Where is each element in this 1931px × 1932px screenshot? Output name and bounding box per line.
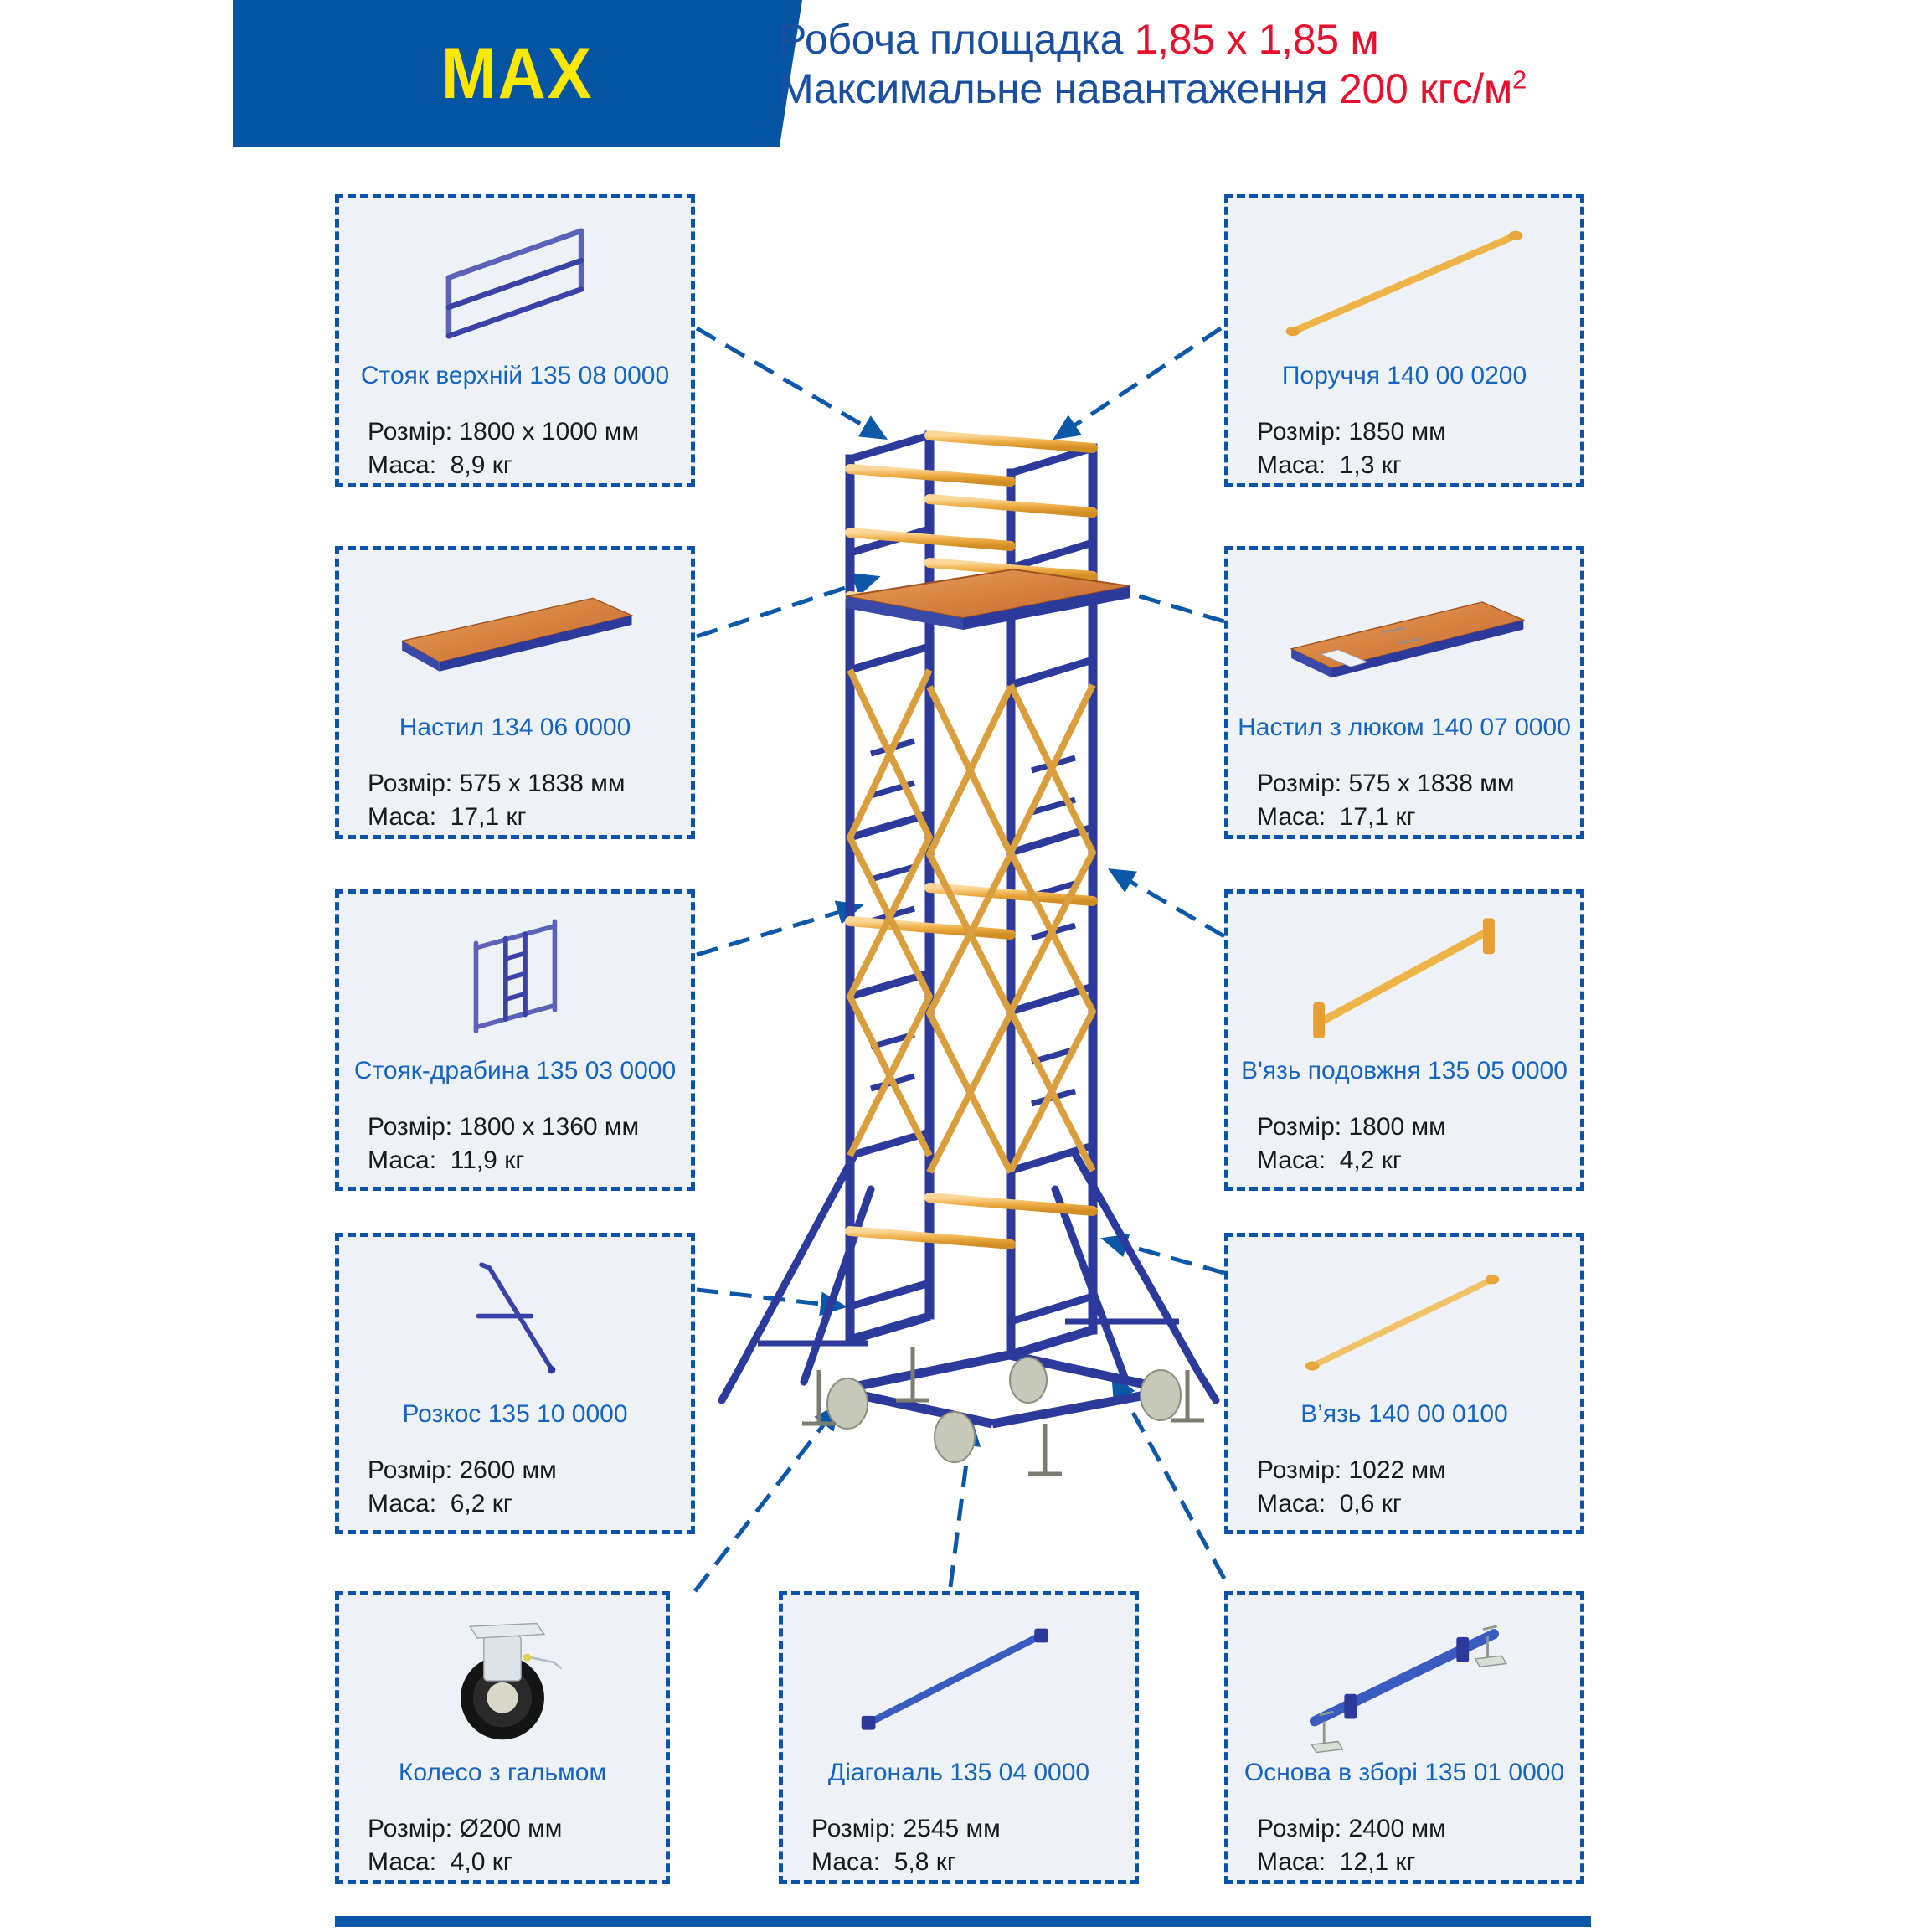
ladder-rungs xyxy=(871,741,1075,1104)
size-label: Розмір: xyxy=(1257,415,1341,449)
mass-label: Маса: xyxy=(1257,801,1326,834)
size-value: 575 х 1838 мм xyxy=(459,767,625,801)
card-specs: Розмір: 2545 мм Маса: 5,8 кг xyxy=(811,1812,1135,1878)
callout-lines xyxy=(695,328,1224,1591)
mass-label: Маса: xyxy=(1257,1144,1326,1177)
size-value: Ø200 мм xyxy=(459,1812,562,1846)
card-title: Поруччя 140 00 0200 xyxy=(1228,362,1580,390)
header-specs: Робоча площадка 1,85 х 1,85 м Максимальн… xyxy=(779,15,1884,114)
mass-value: 12,1 кг xyxy=(1340,1846,1416,1879)
tower-verticals xyxy=(850,435,1093,1350)
card-specs: Розмір: 1800 х 1360 мм Маса: 11,9 кг xyxy=(368,1110,691,1177)
mass-value: 11,9 кг xyxy=(451,1144,525,1177)
guardrail-frame-icon xyxy=(348,210,682,357)
mass-label: Маса: xyxy=(811,1846,880,1879)
card-vyaz-140[interactable]: В’язь 140 00 0100 Розмір: 1022 мм Маса: … xyxy=(1224,1233,1584,1534)
size-label: Розмір: xyxy=(1257,1812,1341,1846)
handrail-tube-icon xyxy=(1237,210,1572,357)
mass-value: 5,8 кг xyxy=(894,1846,956,1879)
outrigger-legs xyxy=(722,1156,1216,1400)
max-load-superscript: 2 xyxy=(1512,64,1527,94)
card-title: Розкос 135 10 0000 xyxy=(339,1400,691,1429)
card-nastyl-z-lyukom[interactable]: Настил з люком 140 07 0000 Розмір: 575 х… xyxy=(1224,546,1584,839)
size-value: 1022 мм xyxy=(1348,1454,1445,1487)
deck-platform xyxy=(846,569,1130,630)
braked-castor-wheel-icon xyxy=(348,1607,657,1754)
card-title: Настил 134 06 0000 xyxy=(339,714,691,742)
working-platform-value: 1,85 х 1,85 м xyxy=(1135,16,1379,63)
diagonal-brace-icon xyxy=(791,1607,1126,1754)
mass-value: 17,1 кг xyxy=(451,801,527,834)
mass-value: 4,0 кг xyxy=(451,1846,512,1879)
card-title: Настил з люком 140 07 0000 xyxy=(1228,714,1580,742)
mass-value: 4,2 кг xyxy=(1340,1144,1402,1177)
size-value: 575 х 1838 мм xyxy=(1348,767,1514,801)
deck-platform-hatch-icon xyxy=(1237,562,1572,708)
card-specs: Розмір: 575 х 1838 мм Маса: 17,1 кг xyxy=(1257,767,1580,833)
max-badge-banner: MAX xyxy=(233,0,802,147)
card-osnova[interactable]: Основа в зборі 135 01 0000 Розмір: 2400 … xyxy=(1224,1591,1584,1884)
card-specs: Розмір: 2400 мм Маса: 12,1 кг xyxy=(1257,1812,1580,1878)
brace-tube-icon xyxy=(1237,1249,1572,1395)
outrigger-icon xyxy=(348,1249,682,1395)
size-label: Розмір: xyxy=(368,1454,452,1487)
card-koleso[interactable]: Колесо з гальмом Розмір: Ø200 мм Маса: 4… xyxy=(335,1591,670,1884)
max-load-value: 200 кгс/м xyxy=(1339,65,1512,112)
longitudinal-brace-icon xyxy=(1237,905,1572,1052)
card-specs: Розмір: 1850 мм Маса: 1,3 кг xyxy=(1257,415,1580,482)
card-specs: Розмір: 1022 мм Маса: 0,6 кг xyxy=(1257,1454,1580,1520)
card-poruchchya[interactable]: Поруччя 140 00 0200 Розмір: 1850 мм Маса… xyxy=(1224,194,1584,487)
card-title: Колесо з гальмом xyxy=(339,1759,666,1787)
ladder-frame-icon xyxy=(348,905,682,1052)
horizontal-braces xyxy=(850,435,1093,1244)
deck-platform-icon xyxy=(348,562,682,708)
base-assembly-icon xyxy=(1237,1607,1572,1754)
working-platform-line: Робоча площадка 1,85 х 1,85 м xyxy=(779,15,1884,64)
mass-label: Маса: xyxy=(368,449,436,482)
scaffold-tower-illustration xyxy=(722,435,1216,1474)
mass-label: Маса: xyxy=(368,1846,436,1879)
mass-value: 6,2 кг xyxy=(451,1487,512,1521)
card-stoyak-verkhniy[interactable]: Стояк верхній 135 08 0000 Розмір: 1800 х… xyxy=(335,194,695,487)
card-title: Стояк-драбина 135 03 0000 xyxy=(339,1057,691,1085)
size-value: 2600 мм xyxy=(459,1454,556,1487)
card-specs: Розмір: 575 х 1838 мм Маса: 17,1 кг xyxy=(368,767,691,833)
footer-bar xyxy=(335,1916,1591,1927)
size-value: 2400 мм xyxy=(1348,1812,1445,1846)
max-badge-label: MAX xyxy=(441,33,593,116)
max-load-line: Максимальне навантаження 200 кгс/м2 xyxy=(779,64,1884,114)
castor-wheels xyxy=(827,1358,1181,1462)
diagonal-braces xyxy=(850,670,1093,1172)
mass-label: Маса: xyxy=(368,1144,436,1177)
mass-label: Маса: xyxy=(368,801,436,834)
size-value: 1800 мм xyxy=(1348,1110,1445,1144)
size-label: Розмір: xyxy=(368,415,452,449)
size-value: 1800 х 1000 мм xyxy=(459,415,639,449)
tower-base-frame xyxy=(837,1316,1172,1424)
size-label: Розмір: xyxy=(368,767,452,801)
card-title: В’язь 140 00 0100 xyxy=(1228,1400,1580,1429)
tower-frame-rungs xyxy=(850,435,1093,1321)
card-specs: Розмір: Ø200 мм Маса: 4,0 кг xyxy=(368,1812,666,1878)
mass-value: 8,9 кг xyxy=(451,449,512,482)
card-rozkos[interactable]: Розкос 135 10 0000 Розмір: 2600 мм Маса:… xyxy=(335,1233,695,1534)
mass-label: Маса: xyxy=(1257,1846,1326,1879)
card-stoyak-drabyna[interactable]: Стояк-драбина 135 03 0000 Розмір: 1800 х… xyxy=(335,889,695,1191)
size-label: Розмір: xyxy=(368,1110,452,1144)
working-platform-label: Робоча площадка xyxy=(779,16,1135,63)
card-diagonal[interactable]: Діагональ 135 04 0000 Розмір: 2545 мм Ма… xyxy=(779,1591,1139,1884)
card-specs: Розмір: 1800 х 1000 мм Маса: 8,9 кг xyxy=(368,415,691,482)
size-label: Розмір: xyxy=(1257,1454,1341,1487)
size-label: Розмір: xyxy=(368,1812,452,1846)
card-title: Діагональ 135 04 0000 xyxy=(783,1759,1135,1787)
card-title: Основа в зборі 135 01 0000 xyxy=(1228,1759,1580,1787)
card-specs: Розмір: 2600 мм Маса: 6,2 кг xyxy=(368,1454,691,1520)
outrigger-crossbars xyxy=(758,1321,1179,1343)
mass-value: 0,6 кг xyxy=(1340,1487,1402,1521)
mass-label: Маса: xyxy=(1257,449,1326,482)
screw-jacks xyxy=(802,1347,1204,1474)
mass-label: Маса: xyxy=(368,1487,436,1521)
spec-sheet-page: MAX Робоча площадка 1,85 х 1,85 м Максим… xyxy=(0,0,1931,1932)
card-title: Стояк верхній 135 08 0000 xyxy=(339,362,691,390)
max-load-label: Максимальне навантаження xyxy=(779,65,1339,112)
mass-value: 17,1 кг xyxy=(1340,801,1416,834)
size-value: 2545 мм xyxy=(903,1812,1000,1846)
size-label: Розмір: xyxy=(1257,1110,1341,1144)
mass-label: Маса: xyxy=(1257,1487,1326,1521)
card-vyaz-podovzhnya[interactable]: В'язь подовжня 135 05 0000 Розмір: 1800 … xyxy=(1224,889,1584,1191)
card-title: В'язь подовжня 135 05 0000 xyxy=(1228,1057,1580,1085)
mass-value: 1,3 кг xyxy=(1340,449,1402,482)
card-nastyl[interactable]: Настил 134 06 0000 Розмір: 575 х 1838 мм… xyxy=(335,546,695,839)
size-value: 1850 мм xyxy=(1348,415,1445,449)
card-specs: Розмір: 1800 мм Маса: 4,2 кг xyxy=(1257,1110,1580,1177)
size-value: 1800 х 1360 мм xyxy=(459,1110,639,1144)
size-label: Розмір: xyxy=(811,1812,896,1846)
size-label: Розмір: xyxy=(1257,767,1341,801)
